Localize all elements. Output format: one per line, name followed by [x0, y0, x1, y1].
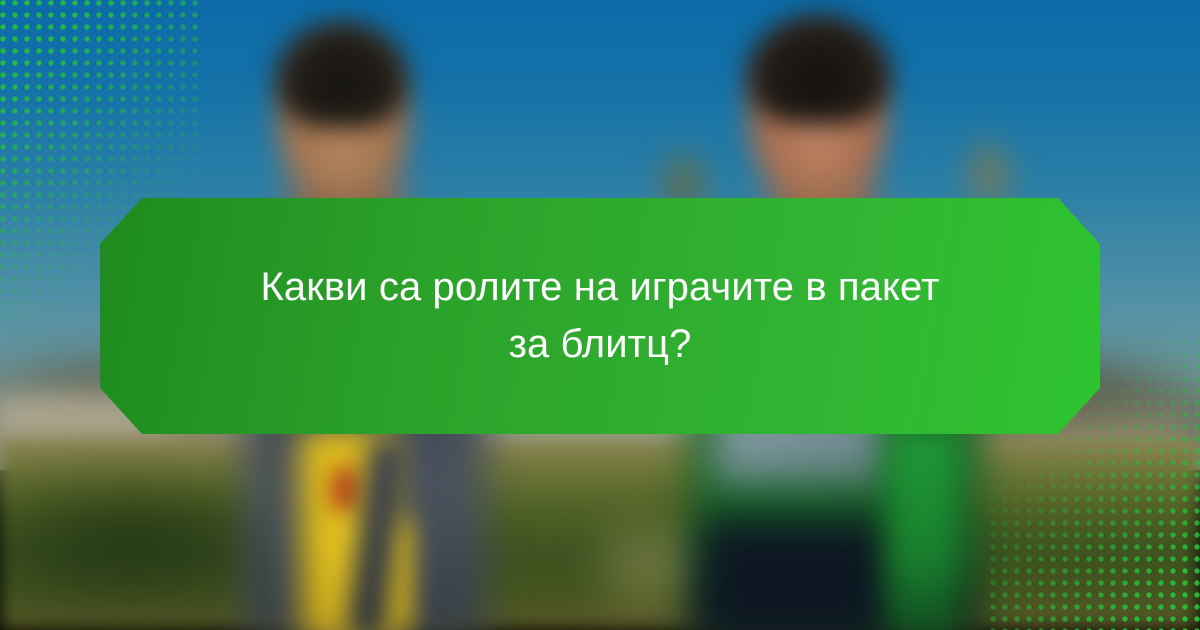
left-player-red-accent: [332, 468, 358, 512]
banner-canvas: Какви са ролите на играчите в пакет за б…: [0, 0, 1200, 630]
left-player-hair: [272, 18, 412, 128]
page-title: Какви са ролите на играчите в пакет за б…: [250, 259, 950, 373]
right-player-hair: [744, 12, 894, 124]
right-player-green-kit: [888, 430, 958, 630]
right-player-shorts: [700, 520, 890, 630]
title-banner: Какви са ролите на играчите в пакет за б…: [100, 198, 1100, 434]
